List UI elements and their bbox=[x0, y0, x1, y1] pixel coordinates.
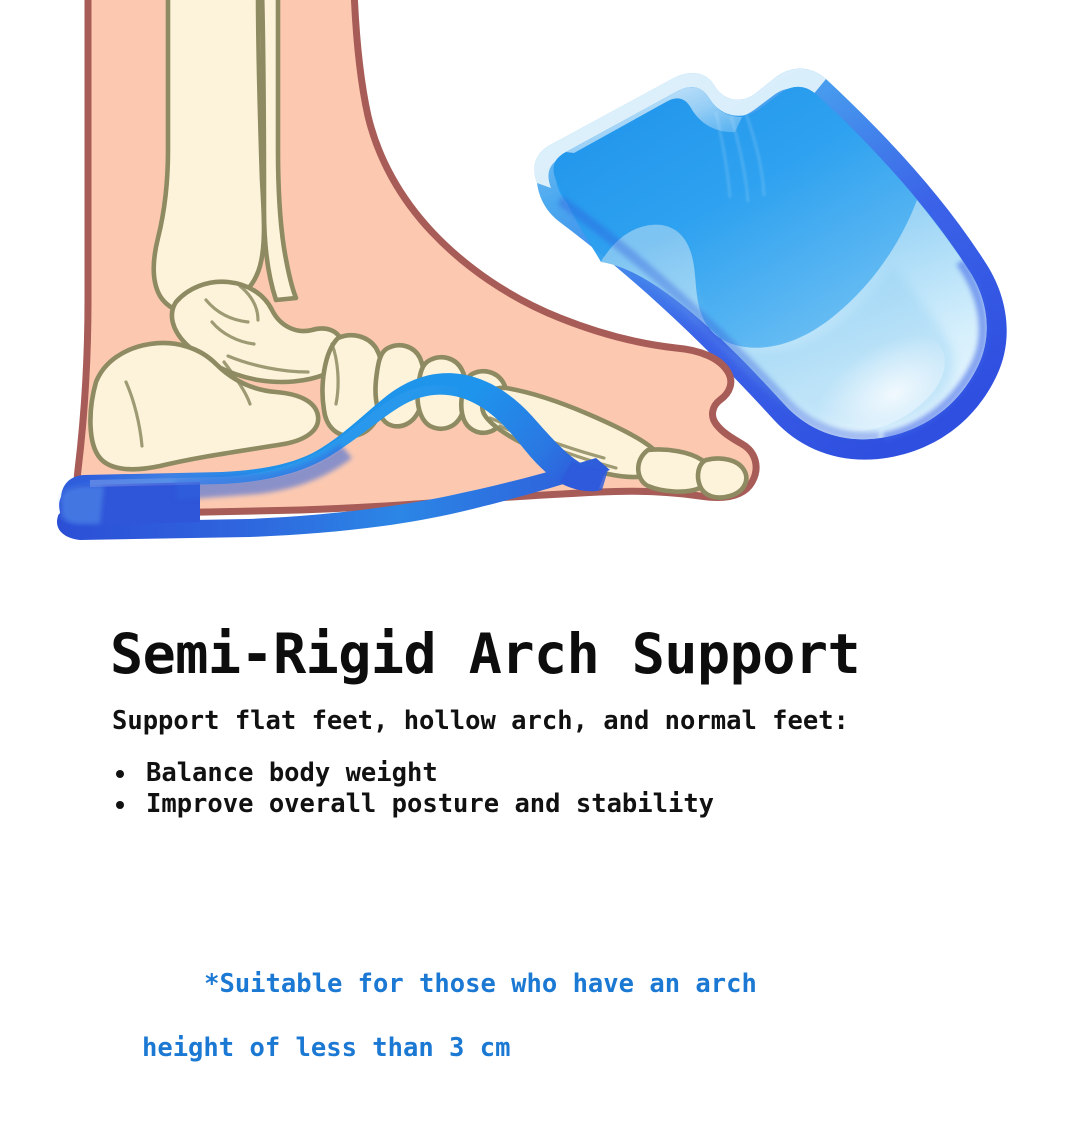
list-item: Improve overall posture and stability bbox=[112, 789, 714, 820]
bone-phalanx-distal bbox=[698, 458, 746, 497]
illustration-svg bbox=[0, 0, 1080, 600]
footnote-line-2: height of less than 3 cm bbox=[112, 1032, 757, 1064]
insole-profile-left-cap bbox=[61, 486, 104, 524]
product-subtitle: Support flat feet, hollow arch, and norm… bbox=[112, 704, 849, 738]
bullet-icon bbox=[116, 770, 124, 778]
list-item: Balance body weight bbox=[112, 758, 714, 789]
bone-tibia bbox=[154, 0, 264, 314]
benefit-label: Improve overall posture and stability bbox=[146, 789, 714, 819]
product-info-card: Semi-Rigid Arch Support Support flat fee… bbox=[0, 0, 1080, 1080]
bullet-icon bbox=[116, 801, 124, 809]
suitability-footnote: *Suitable for those who have an arch hei… bbox=[112, 936, 757, 1128]
page-title: Semi-Rigid Arch Support bbox=[110, 622, 860, 686]
benefit-list: Balance body weight Improve overall post… bbox=[112, 758, 714, 820]
benefit-label: Balance body weight bbox=[146, 758, 438, 788]
footnote-line-1: *Suitable for those who have an arch bbox=[204, 969, 757, 999]
product-illustration bbox=[0, 0, 1080, 600]
